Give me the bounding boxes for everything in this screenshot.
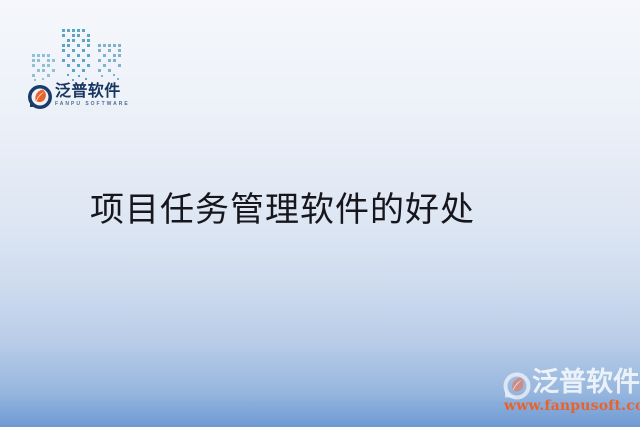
presentation-slide: 泛普软件 FANPU SOFTWARE 项目任务管理软件的好处 泛普软件 www… xyxy=(0,0,640,427)
brand-name-en: FANPU SOFTWARE xyxy=(55,100,137,108)
watermark-brand-name: 泛普软件 xyxy=(532,367,640,399)
watermark-url: www.fanpusoft.com xyxy=(504,398,640,415)
fanpu-logo-text: 泛普软件 FANPU SOFTWARE xyxy=(55,82,137,108)
slide-title: 项目任务管理软件的好处 xyxy=(90,188,475,232)
watermark: 泛普软件 www.fanpusoft.com xyxy=(496,365,636,421)
watermark-logo-emblem-icon xyxy=(502,371,532,401)
brand-name-cn: 泛普软件 xyxy=(55,82,137,100)
fanpu-logo-lockup: 泛普软件 FANPU SOFTWARE xyxy=(27,82,137,116)
brand-block: 泛普软件 FANPU SOFTWARE xyxy=(25,22,137,118)
pixel-city-skyline-icon xyxy=(25,22,137,84)
fanpu-logo-emblem-icon xyxy=(27,84,53,110)
